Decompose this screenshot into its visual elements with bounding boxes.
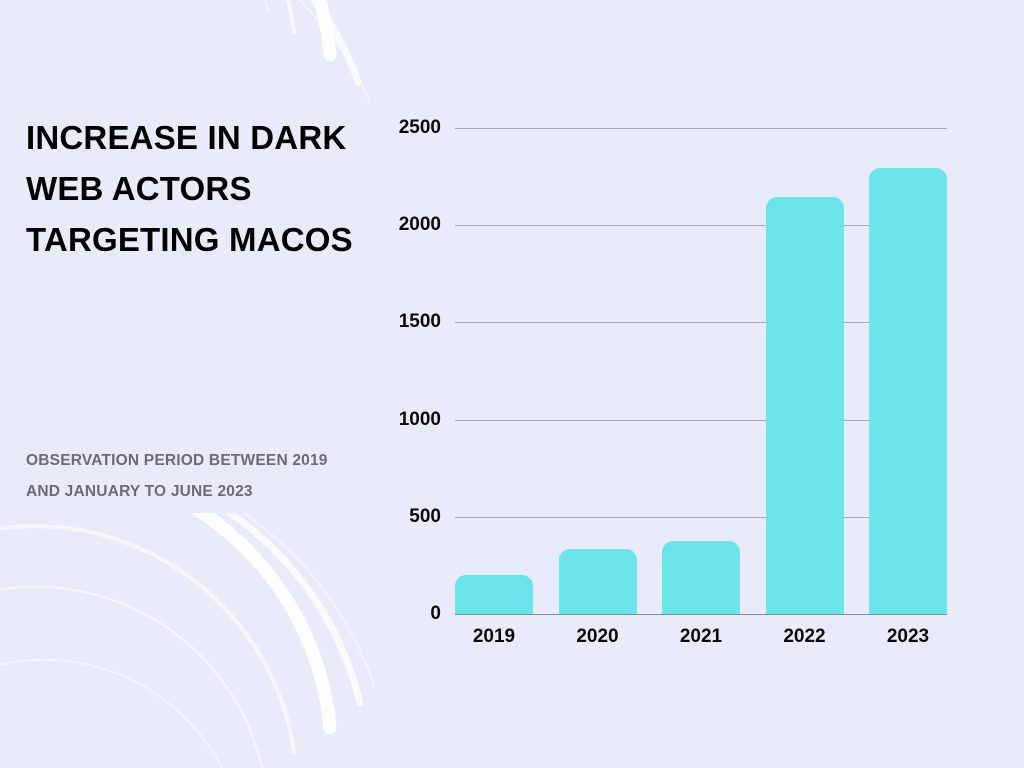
plot-area: 05001000150020002500 2019202020212022202… (455, 128, 947, 614)
bar-slot-2021: 2021 (662, 128, 740, 614)
slide-canvas: INCREASE IN DARK WEB ACTORS TARGETING MA… (0, 0, 1024, 768)
bar-2023[interactable] (869, 168, 947, 614)
subtitle-text: OBSERVATION PERIOD BETWEEN 2019 AND JANU… (26, 445, 346, 507)
bar-2020[interactable] (559, 549, 637, 614)
y-axis-tick-label: 1000 (399, 409, 441, 431)
bar-slot-2020: 2020 (559, 128, 637, 614)
bar-slot-2023: 2023 (869, 128, 947, 614)
y-axis-tick-label: 0 (430, 603, 441, 625)
bar-2022[interactable] (766, 197, 844, 614)
x-axis-tick-label-2019: 2019 (455, 626, 533, 648)
y-axis-tick-label: 1500 (399, 311, 441, 333)
bar-2019[interactable] (455, 575, 533, 614)
x-axis-tick-label-2023: 2023 (869, 626, 947, 648)
y-axis-tick-label: 2000 (399, 214, 441, 236)
x-axis-tick-label-2021: 2021 (662, 626, 740, 648)
x-axis-tick-label-2022: 2022 (766, 626, 844, 648)
bar-chart: 05001000150020002500 2019202020212022202… (375, 105, 975, 665)
bar-slot-2022: 2022 (766, 128, 844, 614)
y-axis-tick-label: 500 (409, 506, 441, 528)
bar-slot-2019: 2019 (455, 128, 533, 614)
bar-group: 20192020202120222023 (455, 128, 947, 614)
x-axis-tick-label-2020: 2020 (559, 626, 637, 648)
gridline-0: 0 (455, 614, 947, 615)
swirl-arc-decoration-bottom-left (0, 513, 390, 768)
page-title: INCREASE IN DARK WEB ACTORS TARGETING MA… (26, 112, 356, 265)
text-column: INCREASE IN DARK WEB ACTORS TARGETING MA… (26, 112, 356, 265)
bar-2021[interactable] (662, 541, 740, 614)
y-axis-tick-label: 2500 (399, 117, 441, 139)
